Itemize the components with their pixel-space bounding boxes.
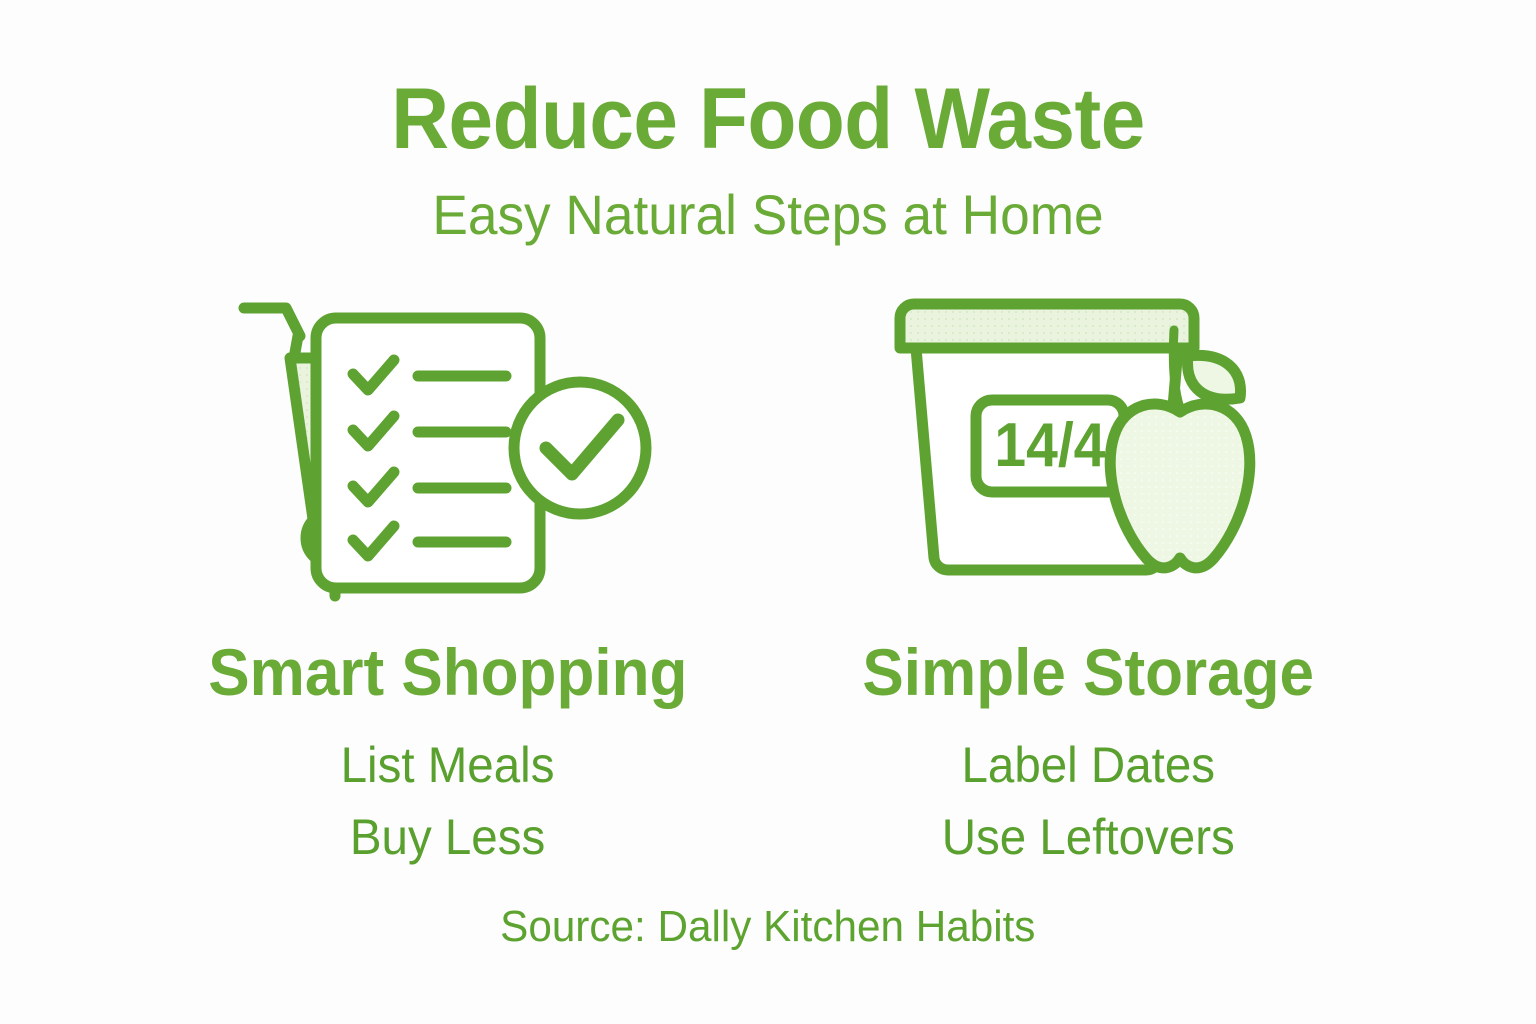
container-date-text: 14/4 xyxy=(994,410,1105,480)
source-attribution: Source: Dally Kitchen Habits xyxy=(500,903,1035,951)
shopping-cart-checklist-icon xyxy=(228,296,668,606)
column-simple-storage: 14/4 Simple Storage Label Dates Use Left… xyxy=(768,296,1408,873)
page-title: Reduce Food Waste xyxy=(54,74,1482,164)
cart-handle xyxy=(244,308,300,336)
storage-container-apple-icon: 14/4 xyxy=(888,296,1288,596)
column-line: Use Leftovers xyxy=(941,801,1234,873)
column-line: Label Dates xyxy=(941,729,1234,801)
column-title-simple-storage: Simple Storage xyxy=(862,638,1314,707)
header: Reduce Food Waste Easy Natural Steps at … xyxy=(0,74,1536,246)
column-lines-simple-storage: Label Dates Use Leftovers xyxy=(934,729,1242,873)
column-title-smart-shopping: Smart Shopping xyxy=(208,638,687,707)
check-circle-icon xyxy=(514,382,646,514)
column-lines-smart-shopping: List Meals Buy Less xyxy=(335,729,560,873)
apple-leaf-icon xyxy=(1188,355,1241,399)
columns-container: Smart Shopping List Meals Buy Less xyxy=(0,296,1536,873)
icon-wrap-simple-storage: 14/4 xyxy=(888,296,1288,616)
column-smart-shopping: Smart Shopping List Meals Buy Less xyxy=(128,296,768,873)
column-line: List Meals xyxy=(341,729,555,801)
column-line: Buy Less xyxy=(341,801,555,873)
icon-wrap-smart-shopping xyxy=(228,296,668,616)
infographic-poster: Reduce Food Waste Easy Natural Steps at … xyxy=(0,0,1536,1024)
container-lid xyxy=(900,304,1194,348)
footer: Source: Dally Kitchen Habits xyxy=(0,903,1536,951)
apple-icon xyxy=(1110,404,1250,568)
page-subtitle: Easy Natural Steps at Home xyxy=(38,184,1497,246)
